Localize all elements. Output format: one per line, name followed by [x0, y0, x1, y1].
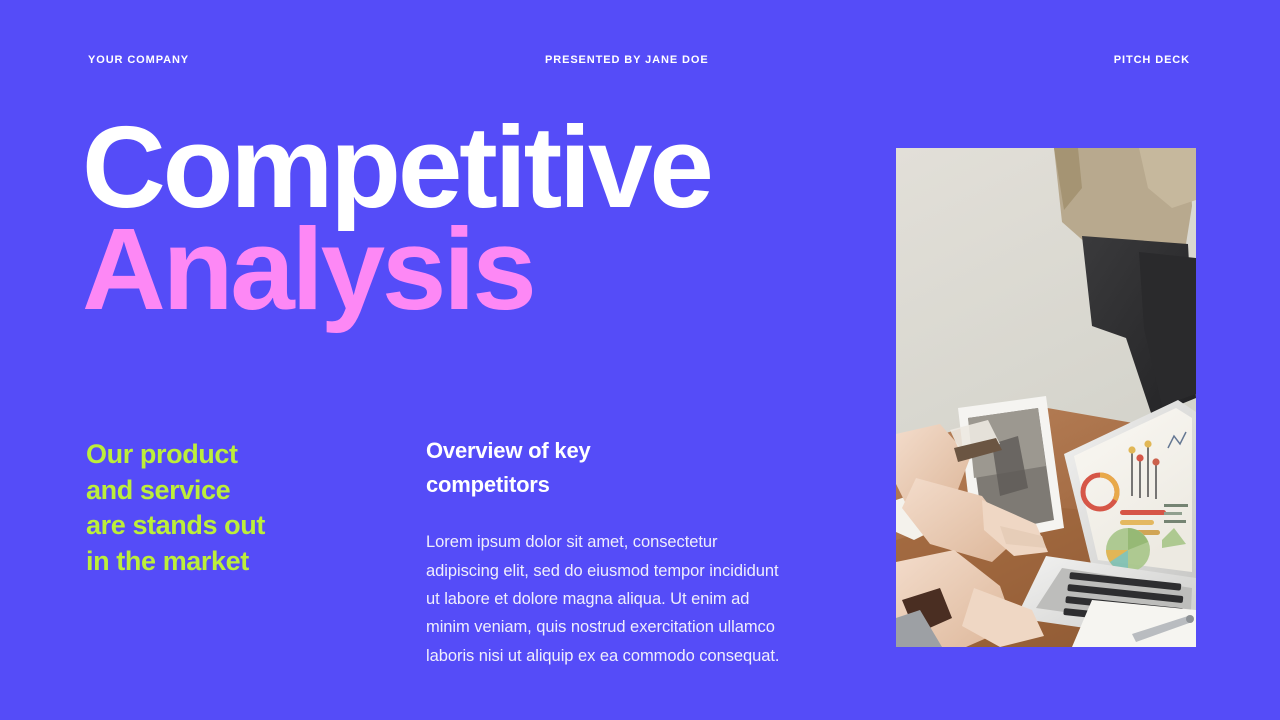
slide-canvas: YOUR COMPANY PRESENTED BY JANE DOE PITCH… — [0, 0, 1280, 720]
tagline-line: and service — [86, 473, 386, 509]
overview-heading: Overview of key competitors — [426, 434, 656, 502]
tagline-line: are stands out — [86, 508, 386, 544]
page-title-line-primary: Competitive — [82, 116, 882, 218]
tagline-line: in the market — [86, 544, 386, 580]
tagline-line: Our product — [86, 437, 386, 473]
header-company-label: YOUR COMPANY — [88, 48, 189, 72]
page-title: Competitive Analysis — [82, 116, 882, 320]
page-title-line-accent: Analysis — [82, 218, 882, 320]
photo-illustration — [896, 148, 1196, 647]
overview-paragraph: Lorem ipsum dolor sit amet, consectetur … — [426, 528, 782, 670]
slide-header: YOUR COMPANY PRESENTED BY JANE DOE PITCH… — [0, 48, 1280, 72]
overview-block: Overview of key competitors Lorem ipsum … — [426, 434, 786, 670]
slide-photo — [896, 148, 1196, 647]
header-presenter-label: PRESENTED BY JANE DOE — [545, 48, 709, 72]
tagline-block: Our product and service are stands out i… — [86, 437, 386, 580]
header-deck-label: PITCH DECK — [1114, 48, 1190, 72]
